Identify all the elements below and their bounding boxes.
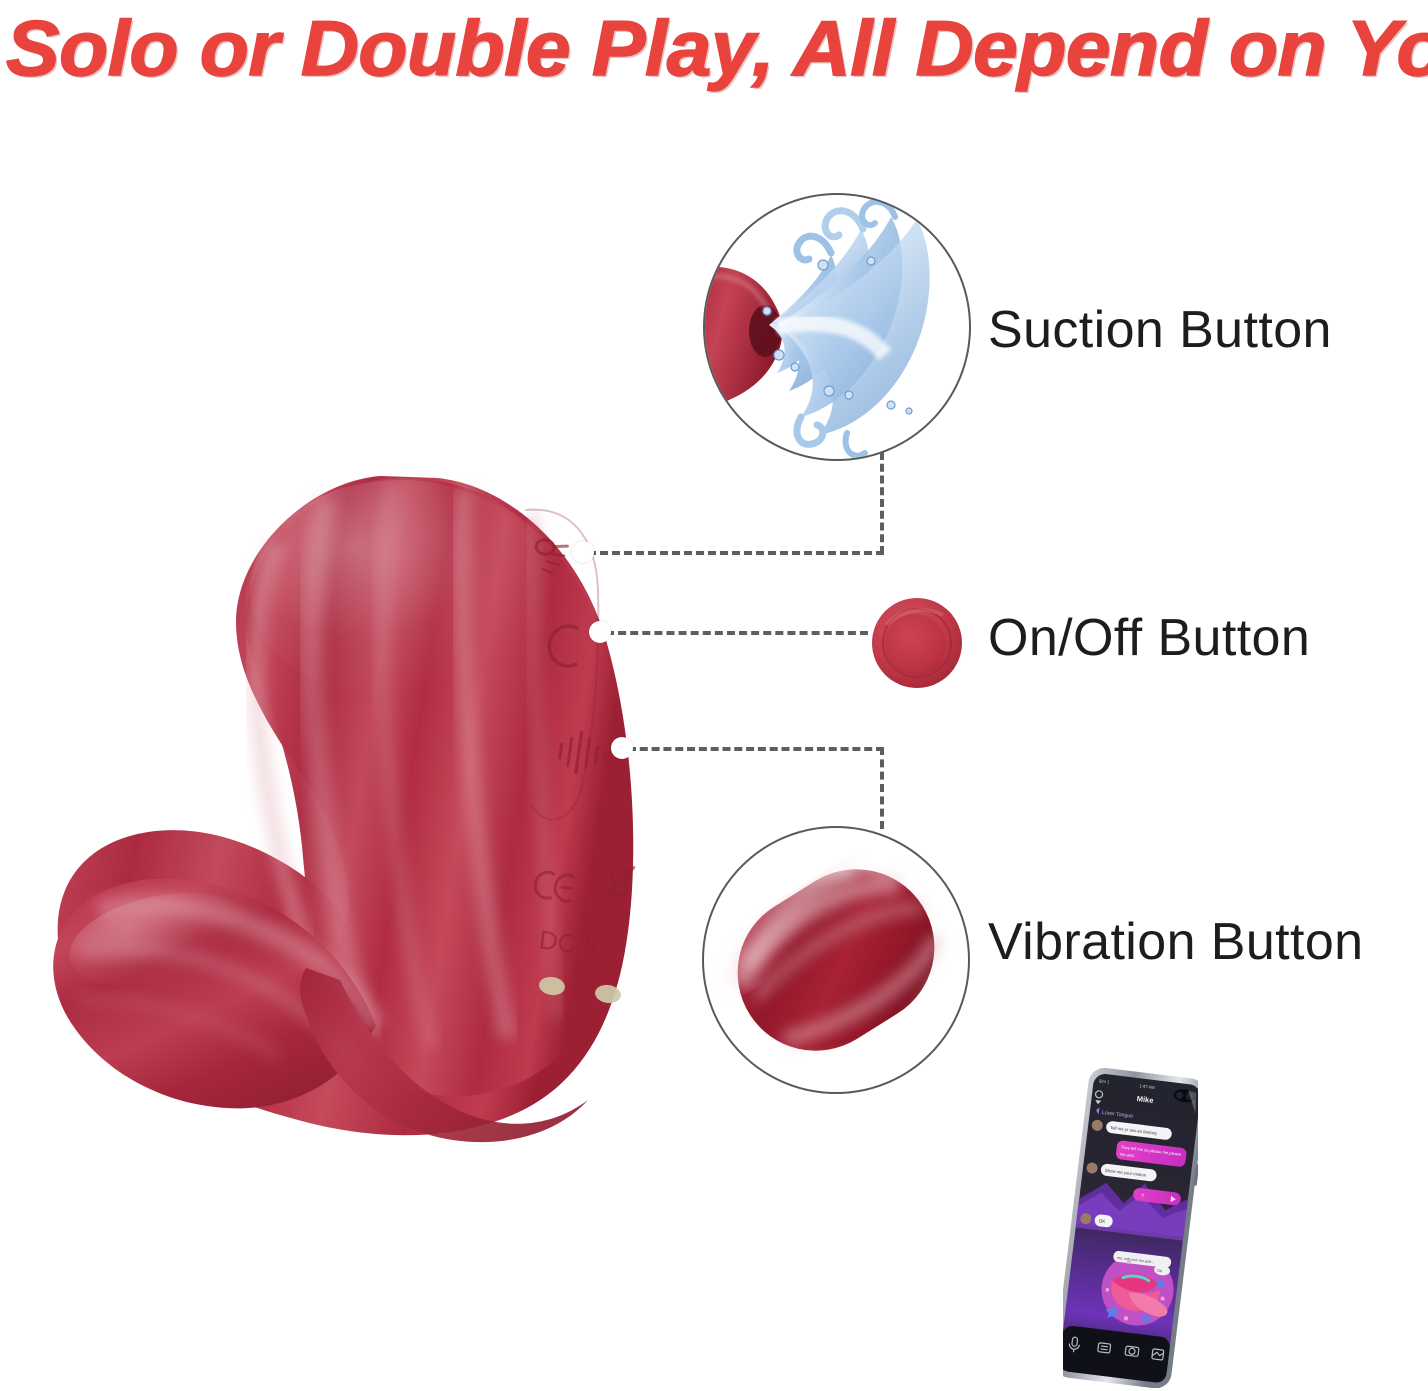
product-device-illustration: DC 5V <box>40 440 720 1330</box>
phone-frame-group: Sim 1 1:47 AM 73 % Mike Lover Tongue <box>1063 1068 1198 1388</box>
leader-line-onoff-horizontal <box>606 631 868 635</box>
vibration-zoom-illustration <box>704 828 968 1092</box>
onoff-button-illustration <box>871 597 963 689</box>
suction-zoom-illustration <box>705 195 969 459</box>
leader-line-suction-vertical <box>880 452 884 554</box>
phone-svg: Sim 1 1:47 AM 73 % Mike Lover Tongue <box>1063 1068 1198 1388</box>
device-svg: DC 5V <box>40 440 720 1330</box>
callout-label-vibration: Vibration Button <box>988 912 1363 972</box>
onoff-button-svg <box>871 597 963 689</box>
leader-line-vibration-vertical <box>880 747 884 829</box>
marker-dot-suction <box>572 541 594 563</box>
suction-callout-circle <box>703 193 971 461</box>
callout-label-suction: Suction Button <box>988 300 1332 360</box>
title-banner: Solo or Double Play, All Depend on You <box>0 0 1428 105</box>
marker-dot-vibration <box>611 737 633 759</box>
marker-dot-onoff <box>589 621 611 643</box>
leader-line-vibration-horizontal <box>628 747 884 751</box>
app-phone-mockup: Sim 1 1:47 AM 73 % Mike Lover Tongue <box>1063 1068 1198 1388</box>
page-title: Solo or Double Play, All Depend on You <box>6 2 1428 94</box>
suction-water-flow <box>769 202 930 456</box>
onoff-inner-disc <box>884 614 946 676</box>
device-body-group <box>53 476 633 1142</box>
vibration-callout-circle <box>702 826 970 1094</box>
leader-line-suction-horizontal <box>588 551 884 555</box>
infographic-page: Solo or Double Play, All Depend on You <box>0 0 1428 1391</box>
callout-label-onoff: On/Off Button <box>988 608 1310 668</box>
device-top-highlight <box>250 480 550 700</box>
